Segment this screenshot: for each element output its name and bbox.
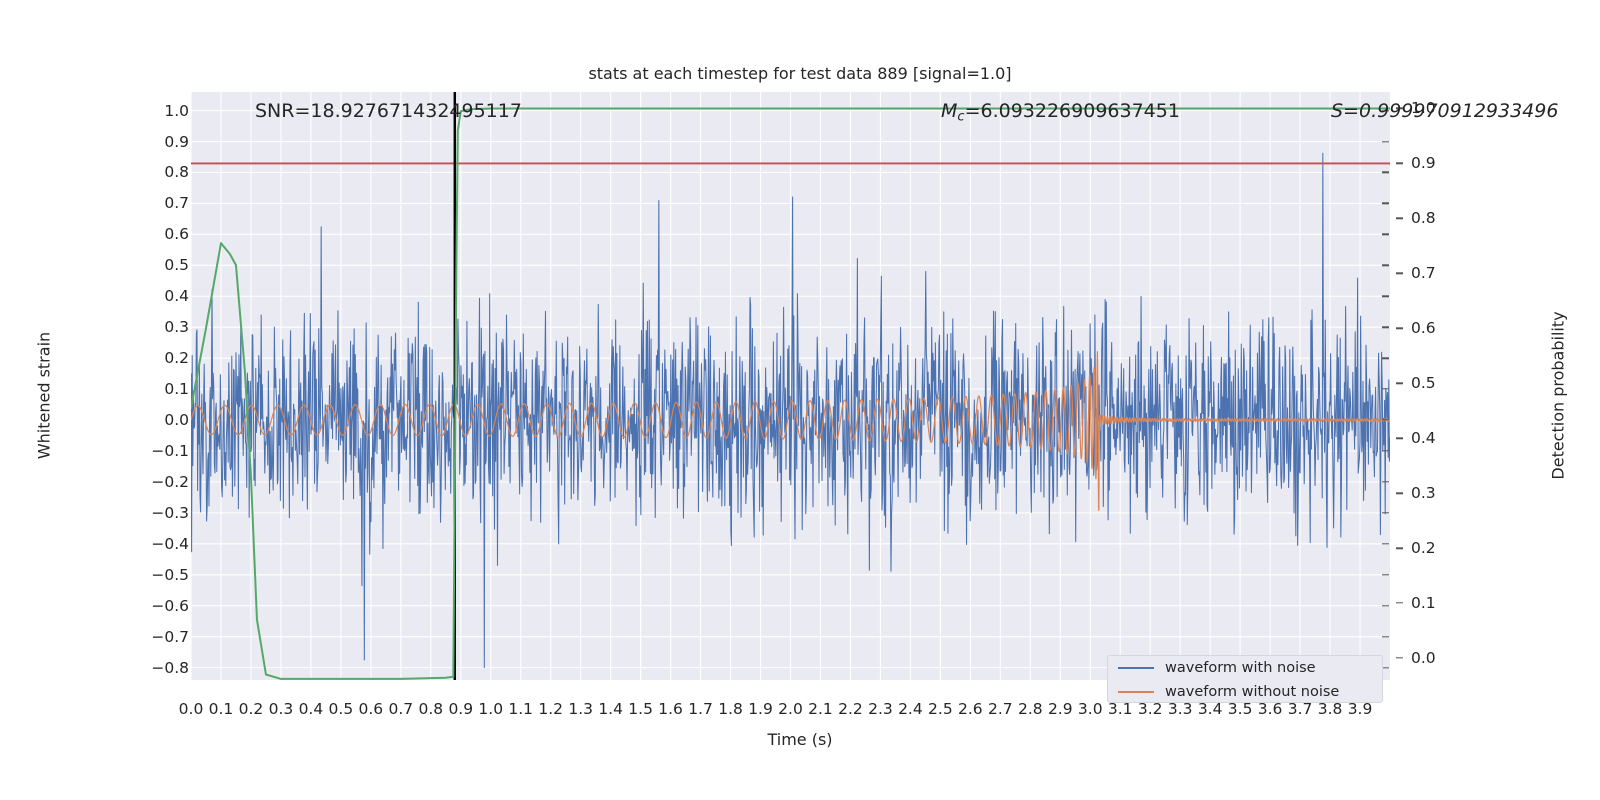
y-axis-right-tick-mark — [1396, 383, 1403, 384]
y-axis-left-tick-label: 0.7 — [69, 194, 189, 212]
legend-label-1: waveform without noise — [1165, 684, 1339, 700]
y-axis-right-tick-mark — [1396, 438, 1403, 439]
y-axis-left-tick-mark — [1382, 203, 1389, 204]
y-axis-left-tick-mark — [1382, 574, 1389, 575]
y-axis-left-tick-label: −0.7 — [69, 628, 189, 646]
y-axis-left-tick-label: −0.6 — [69, 597, 189, 615]
y-axis-left-tick-label: −0.4 — [69, 535, 189, 553]
annotation-chirp-mass: Mc=6.093226909637451 — [941, 100, 1180, 124]
y-axis-right-tick-mark — [1396, 602, 1403, 603]
annotation-snr: SNR=18.927671432495117 — [255, 100, 522, 122]
x-axis-tick-label: 2.3 — [868, 700, 893, 718]
y-axis-left-tick-mark — [1382, 512, 1389, 513]
y-axis-left-tick-mark — [1382, 419, 1389, 420]
y-axis-right-tick-label: 0.4 — [1411, 429, 1531, 447]
x-axis-tick-label: 0.2 — [239, 700, 264, 718]
x-axis-tick-label: 1.0 — [478, 700, 503, 718]
y-axis-right-tick-label: 0.5 — [1411, 374, 1531, 392]
y-axis-left-tick-label: 0.3 — [69, 318, 189, 336]
x-axis-tick-label: 1.2 — [538, 700, 563, 718]
x-axis-tick-label: 2.0 — [778, 700, 803, 718]
y-axis-left-tick-mark — [1382, 234, 1389, 235]
x-axis-tick-label: 1.9 — [748, 700, 773, 718]
x-axis-tick-label: 2.2 — [838, 700, 863, 718]
y-axis-left-tick-label: 0.1 — [69, 380, 189, 398]
y-axis-left-tick-label: −0.3 — [69, 504, 189, 522]
x-axis-tick-label: 3.0 — [1078, 700, 1103, 718]
y-axis-right-tick-label: 0.3 — [1411, 484, 1531, 502]
x-axis-tick-label: 1.6 — [658, 700, 683, 718]
x-axis-label: Time (s) — [0, 730, 1600, 749]
chart-title: stats at each timestep for test data 889… — [0, 64, 1600, 83]
y-axis-right-tick-mark — [1396, 163, 1403, 164]
y-axis-left-tick-mark — [1382, 326, 1389, 327]
y-axis-right-tick-label: 0.2 — [1411, 539, 1531, 557]
x-axis-tick-label: 0.4 — [299, 700, 324, 718]
legend-swatch-orange — [1118, 691, 1154, 694]
y-axis-right-tick-mark — [1396, 328, 1403, 329]
y-axis-right-tick-label: 0.1 — [1411, 594, 1531, 612]
legend-swatch-blue — [1118, 667, 1154, 670]
annotation-chirp-mass-symbol: M — [941, 100, 957, 122]
y-axis-left-tick-label: 0.5 — [69, 256, 189, 274]
x-axis-tick-label: 2.6 — [958, 700, 983, 718]
y-axis-right-tick-mark — [1396, 273, 1403, 274]
x-axis-tick-label: 0.1 — [209, 700, 234, 718]
x-axis-tick-label: 1.7 — [688, 700, 713, 718]
y-axis-right-tick-label: 0.8 — [1411, 209, 1531, 227]
x-axis-tick-label: 0.5 — [329, 700, 354, 718]
y-axis-right-tick-label: 0.0 — [1411, 649, 1531, 667]
figure-canvas: stats at each timestep for test data 889… — [0, 0, 1600, 800]
plot-area-svg — [191, 92, 1390, 680]
y-axis-right-label: Detection probability — [1549, 276, 1568, 516]
x-axis-tick-label: 2.4 — [898, 700, 923, 718]
y-axis-right-tick-mark — [1396, 547, 1403, 548]
x-axis-tick-label: 0.9 — [448, 700, 473, 718]
y-axis-right-tick-mark — [1396, 657, 1403, 658]
y-axis-left-tick-label: −0.1 — [69, 442, 189, 460]
x-axis-tick-label: 1.1 — [508, 700, 533, 718]
annotation-score-text: S=0.999970912933496 — [1331, 100, 1558, 122]
x-axis-tick-label: 0.6 — [359, 700, 384, 718]
y-axis-left-tick-mark — [1382, 265, 1389, 266]
x-axis-tick-label: 1.4 — [598, 700, 623, 718]
y-axis-left-tick-label: 1.0 — [69, 102, 189, 120]
y-axis-left-tick-mark — [1382, 450, 1389, 451]
x-axis-tick-label: 2.9 — [1048, 700, 1073, 718]
y-axis-left-tick-label: 0.8 — [69, 163, 189, 181]
x-axis-tick-label: 1.8 — [718, 700, 743, 718]
x-axis-tick-label: 0.3 — [269, 700, 294, 718]
annotation-chirp-mass-subscript: c — [957, 109, 964, 124]
y-axis-left-tick-label: 0.2 — [69, 349, 189, 367]
annotation-score: S=0.999970912933496 — [1331, 100, 1558, 122]
y-axis-left-tick-mark — [1382, 388, 1389, 389]
y-axis-left-tick-mark — [1382, 543, 1389, 544]
y-axis-left-tick-label: 0.6 — [69, 225, 189, 243]
y-axis-right-tick-mark — [1396, 492, 1403, 493]
legend-label-0: waveform with noise — [1165, 660, 1316, 676]
x-axis-tick-label: 2.8 — [1018, 700, 1043, 718]
y-axis-left-tick-mark — [1382, 172, 1389, 173]
y-axis-right-tick-label: 0.9 — [1411, 154, 1531, 172]
y-axis-left-tick-mark — [1382, 636, 1389, 637]
x-axis-tick-label: 2.7 — [988, 700, 1013, 718]
y-axis-left-tick-label: −0.8 — [69, 659, 189, 677]
x-axis-tick-label: 0.0 — [179, 700, 204, 718]
x-axis-tick-label: 2.5 — [928, 700, 953, 718]
y-axis-left-tick-mark — [1382, 357, 1389, 358]
y-axis-left-tick-mark — [1382, 667, 1389, 668]
y-axis-right-tick-mark — [1396, 218, 1403, 219]
plot-axes — [191, 92, 1390, 680]
annotation-chirp-mass-value: =6.093226909637451 — [965, 100, 1180, 122]
y-axis-left-tick-label: 0.9 — [69, 133, 189, 151]
x-axis-tick-label: 1.5 — [628, 700, 653, 718]
x-axis-tick-label: 1.3 — [568, 700, 593, 718]
y-axis-left-tick-label: 0.0 — [69, 411, 189, 429]
y-axis-left-tick-label: −0.5 — [69, 566, 189, 584]
y-axis-left-tick-mark — [1382, 605, 1389, 606]
y-axis-left-tick-mark — [1382, 141, 1389, 142]
legend-item-waveform-with-noise: waveform with noise — [1108, 656, 1382, 680]
y-axis-left-label: Whitened strain — [35, 286, 54, 506]
y-axis-left-tick-label: −0.2 — [69, 473, 189, 491]
legend-item-waveform-without-noise: waveform without noise — [1108, 680, 1382, 704]
x-axis-tick-label: 0.8 — [418, 700, 443, 718]
y-axis-left-tick-mark — [1382, 481, 1389, 482]
chart-legend: waveform with noise waveform without noi… — [1107, 655, 1383, 703]
x-axis-tick-label: 0.7 — [388, 700, 413, 718]
y-axis-left-tick-mark — [1382, 296, 1389, 297]
y-axis-right-tick-label: 0.7 — [1411, 264, 1531, 282]
y-axis-right-tick-label: 0.6 — [1411, 319, 1531, 337]
x-axis-tick-label: 2.1 — [808, 700, 833, 718]
y-axis-left-tick-label: 0.4 — [69, 287, 189, 305]
